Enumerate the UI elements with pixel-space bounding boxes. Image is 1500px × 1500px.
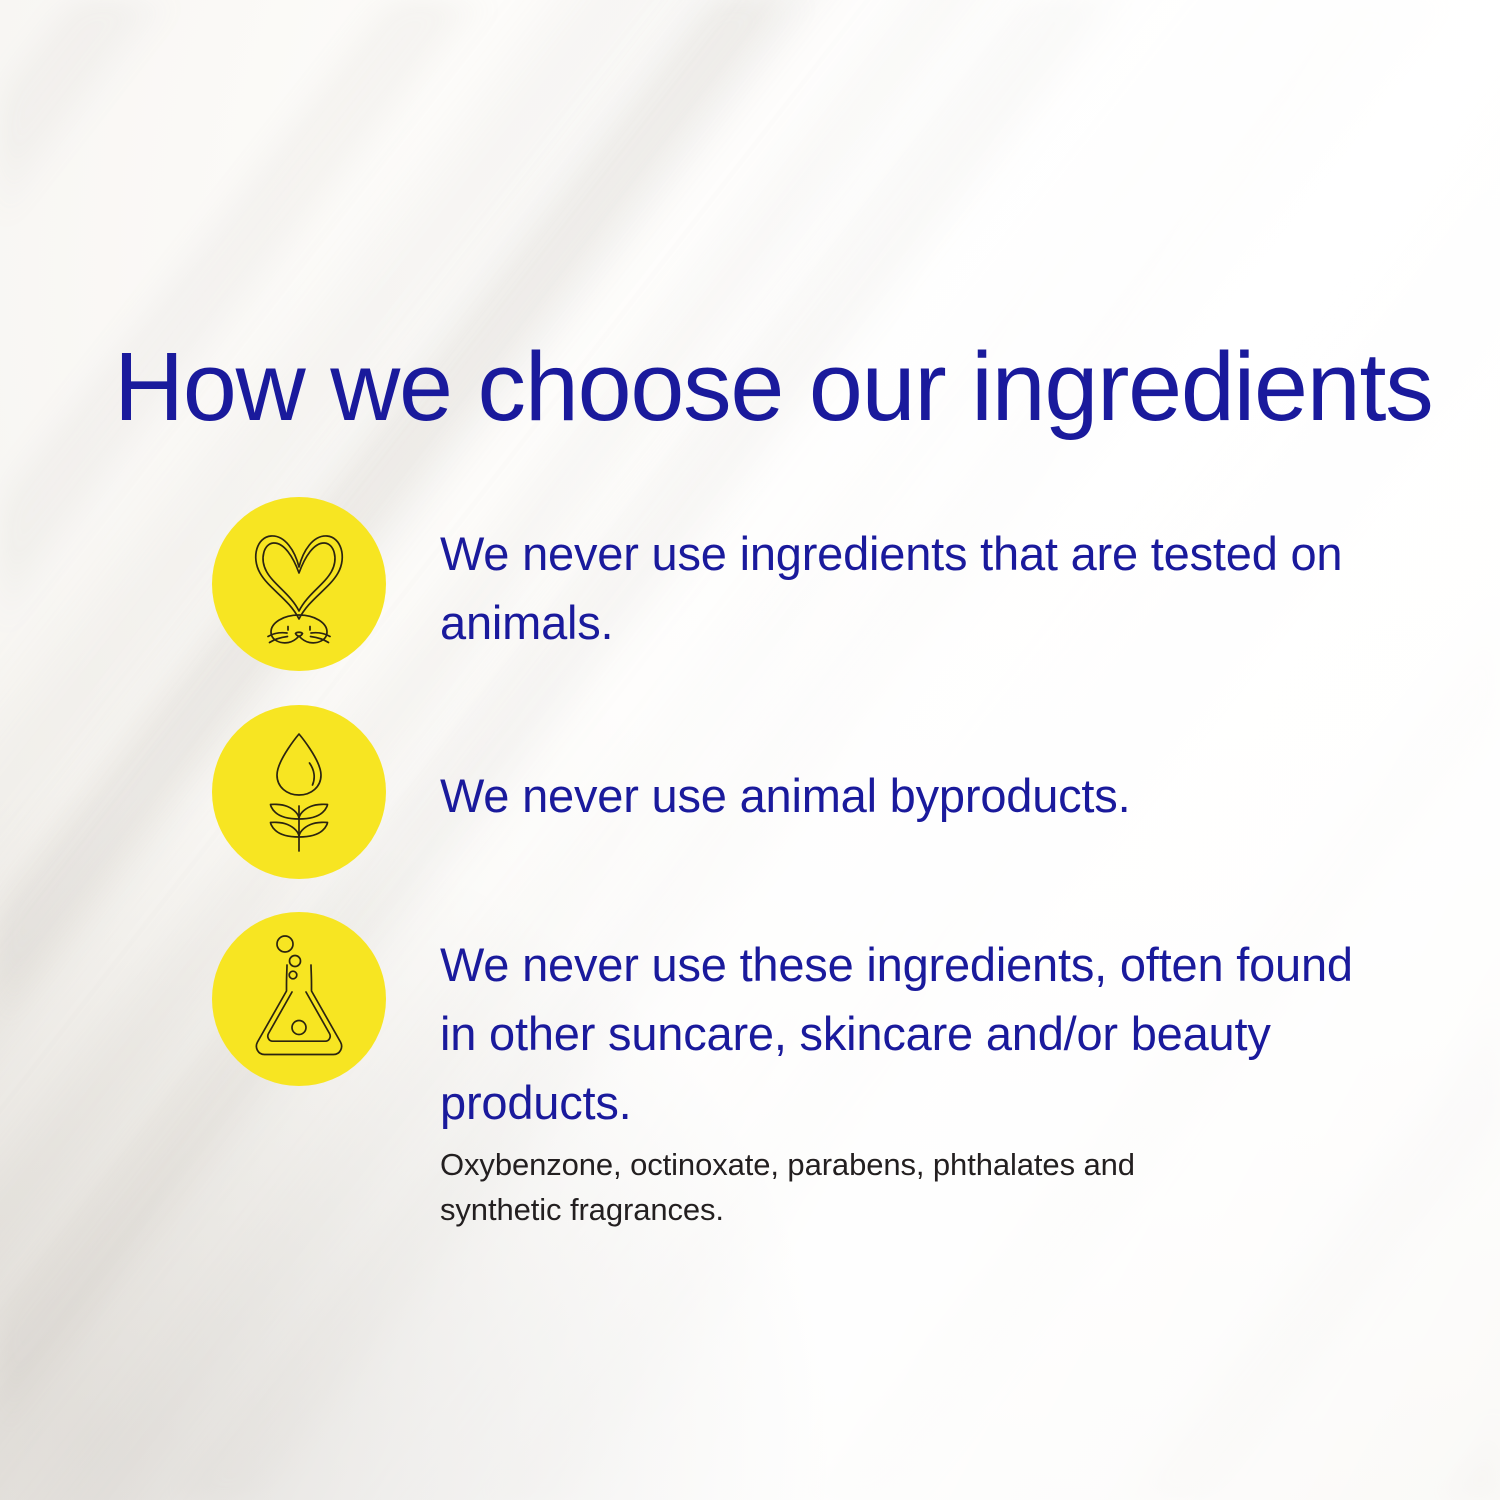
ingredient-exclusion-note: Oxybenzone, octinoxate, parabens, phthal… <box>440 1142 1260 1233</box>
content-area: How we choose our ingredients <box>0 0 1500 1500</box>
page-title: How we choose our ingredients <box>114 338 1433 435</box>
icon-badge <box>212 912 386 1086</box>
claim-item-cruelty-free: We never use ingredients that are tested… <box>212 497 1380 671</box>
ingredients-infographic: How we choose our ingredients <box>0 0 1500 1500</box>
claim-item-no-animal-byproducts: We never use animal byproducts. <box>212 705 1130 879</box>
cruelty-free-bunny-icon <box>243 523 355 645</box>
plant-droplet-icon <box>249 730 349 854</box>
icon-badge <box>212 705 386 879</box>
lab-flask-icon <box>251 935 347 1063</box>
claim-text: We never use these ingredients, often fo… <box>440 912 1380 1137</box>
claim-text: We never use ingredients that are tested… <box>440 497 1380 657</box>
claim-item-no-bad-ingredients: We never use these ingredients, often fo… <box>212 912 1380 1137</box>
icon-badge <box>212 497 386 671</box>
claim-text: We never use animal byproducts. <box>440 705 1130 830</box>
